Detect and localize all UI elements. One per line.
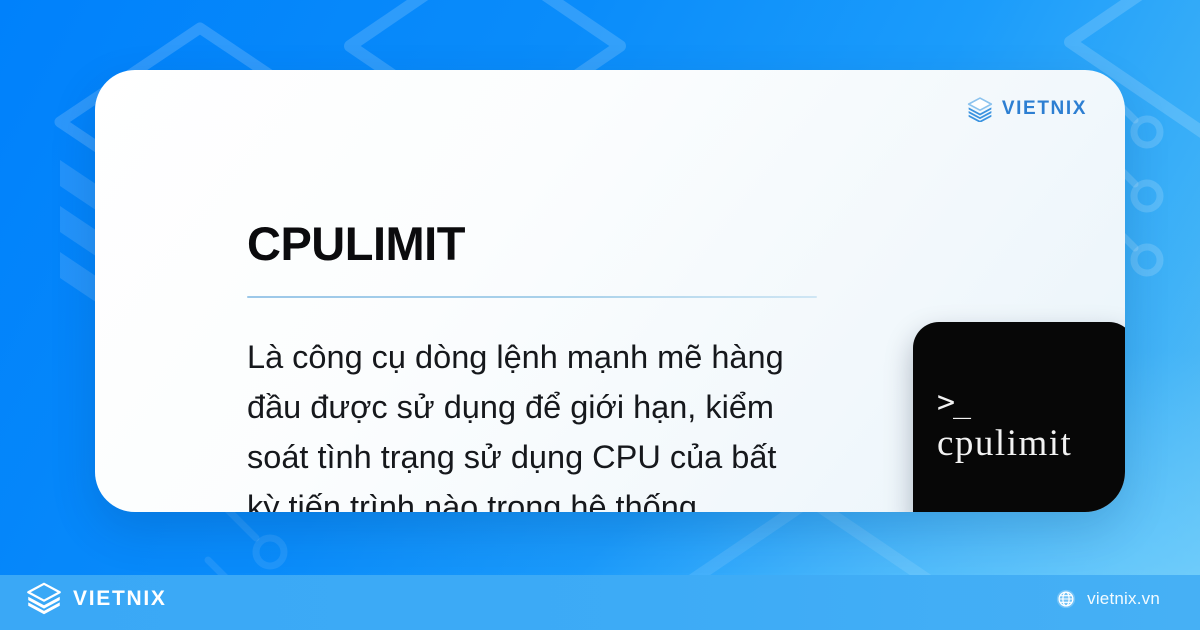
- description-line: Là công cụ dòng lệnh mạnh mẽ hàng: [247, 332, 841, 382]
- terminal-prompt: >_: [937, 390, 1125, 416]
- card-brand-logo: VIETNIX: [967, 96, 1087, 122]
- content-card: VIETNIX CPULIMIT Là công cụ dòng lệnh mạ…: [95, 70, 1125, 512]
- description-line: soát tình trạng sử dụng CPU của bất: [247, 432, 841, 482]
- footer-website[interactable]: vietnix.vn: [1055, 588, 1160, 610]
- terminal-command: cpulimit: [937, 424, 1125, 464]
- description-line: đầu được sử dụng để giới hạn, kiểm: [247, 382, 841, 432]
- page-title: CPULIMIT: [247, 220, 465, 267]
- globe-icon: [1055, 588, 1077, 610]
- stacked-layers-logo-icon: [967, 96, 993, 122]
- footer-website-label: vietnix.vn: [1087, 589, 1160, 609]
- footer-brand-logo: VIETNIX: [26, 581, 167, 617]
- description-line: kỳ tiến trình nào trong hệ thống.: [247, 482, 841, 512]
- footer-brand-name: VIETNIX: [73, 587, 167, 611]
- terminal-box: >_ cpulimit: [913, 322, 1125, 512]
- description-text: Là công cụ dòng lệnh mạnh mẽ hàng đầu đư…: [247, 332, 841, 512]
- title-divider: [247, 296, 817, 298]
- card-brand-name: VIETNIX: [1002, 98, 1087, 120]
- stacked-layers-logo-icon: [26, 581, 62, 617]
- terminal-content: >_ cpulimit: [937, 390, 1125, 464]
- footer-band: [0, 575, 1200, 630]
